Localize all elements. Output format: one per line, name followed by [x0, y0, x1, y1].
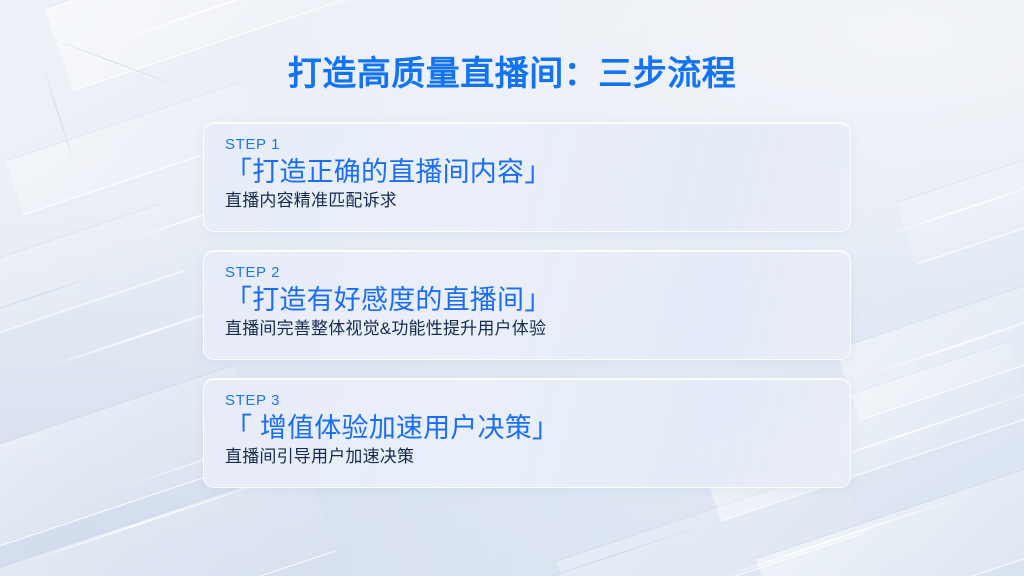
step-label: STEP 1: [225, 137, 850, 152]
decor-hairline-4: [506, 521, 715, 576]
step-title: 「打造正确的直播间内容」: [225, 156, 850, 190]
step-label: STEP 2: [225, 265, 850, 280]
slide-canvas: 打造高质量直播间：三步流程 STEP 1 「打造正确的直播间内容」 直播内容精准…: [0, 0, 1024, 576]
step-label: STEP 3: [225, 393, 850, 408]
step-subtitle: 直播内容精准匹配诉求: [225, 191, 850, 211]
decor-edge-5: [15, 476, 281, 567]
step-title: 「 增值体验加速用户决策」: [225, 412, 850, 446]
decor-edge-7: [865, 305, 1024, 377]
decor-edge-9: [884, 177, 1024, 236]
step-card-2[interactable]: STEP 2 「打造有好感度的直播间」 直播间完善整体视觉&功能性提升用户体验: [203, 250, 851, 360]
decor-edge-1: [92, 0, 339, 49]
steps-list: STEP 1 「打造正确的直播间内容」 直播内容精准匹配诉求 STEP 2 「打…: [203, 122, 851, 488]
decor-hairline-3: [0, 272, 106, 321]
step-subtitle: 直播间引导用户加速决策: [225, 447, 850, 467]
step-card-3[interactable]: STEP 3 「 增值体验加速用户决策」 直播间引导用户加速决策: [203, 378, 851, 488]
decor-plate-7: [836, 254, 1024, 419]
page-title: 打造高质量直播间：三步流程: [0, 46, 1024, 95]
decor-edge-10: [267, 0, 457, 29]
step-title: 「打造有好感度的直播间」: [225, 284, 850, 318]
step-card-1[interactable]: STEP 1 「打造正确的直播间内容」 直播内容精准匹配诉求: [203, 122, 851, 232]
step-subtitle: 直播间完善整体视觉&功能性提升用户体验: [225, 319, 850, 339]
decor-edge-8: [706, 499, 953, 576]
decor-plate-3: [0, 204, 183, 366]
decor-plate-10: [897, 120, 1024, 263]
